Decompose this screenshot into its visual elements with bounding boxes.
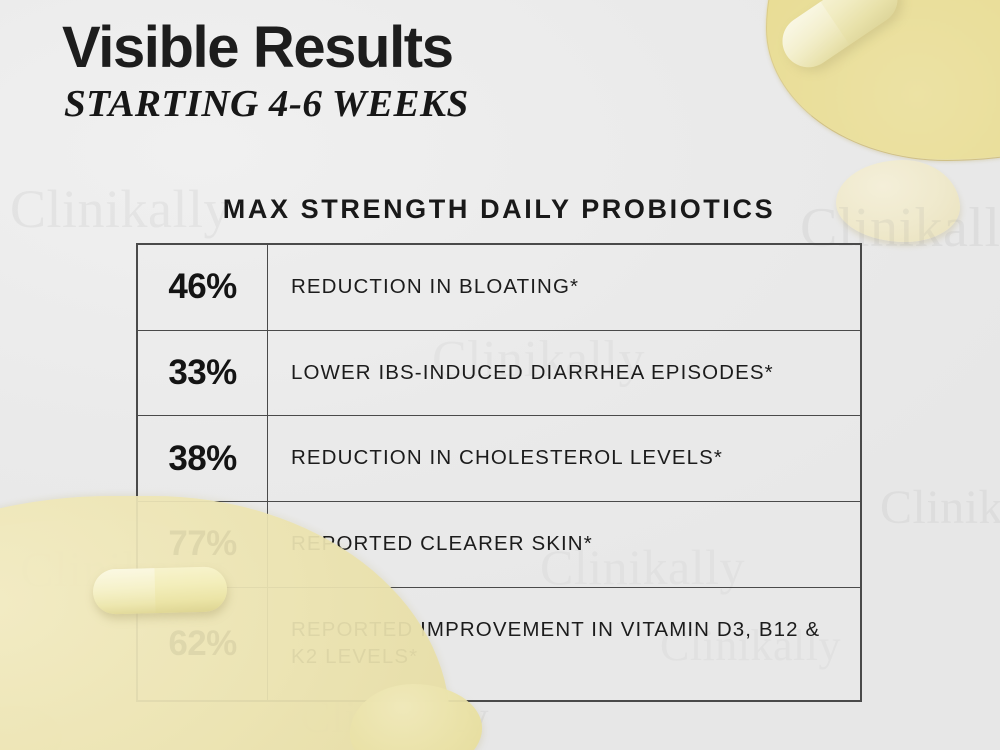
- stat-description-cell: REPORTED CLEARER SKIN*: [268, 501, 861, 587]
- brand-watermark: Clinikally: [880, 480, 1000, 535]
- stat-percent-cell: 38%: [138, 416, 268, 502]
- stat-description-text: REDUCTION IN BLOATING*: [291, 275, 579, 298]
- table-row: 33%LOWER IBS-INDUCED DIARRHEA EPISODES*: [138, 330, 861, 416]
- liquid-blob-top-right-edge: [766, 0, 1000, 161]
- page-subtitle: STARTING 4-6 WEEKS: [64, 84, 469, 126]
- stat-percent-value: 77%: [168, 524, 236, 563]
- stat-percent-value: 46%: [168, 267, 236, 306]
- stat-description-text: REDUCTION IN CHOLESTEROL LEVELS*: [291, 446, 723, 469]
- stat-percent-cell: 62%: [138, 587, 268, 700]
- stat-description-cell: LOWER IBS-INDUCED DIARRHEA EPISODES*: [268, 330, 861, 416]
- table-row: 38%REDUCTION IN CHOLESTEROL LEVELS*: [138, 416, 861, 502]
- stat-percent-cell: 33%: [138, 330, 268, 416]
- stat-description-text: REPORTED CLEARER SKIN*: [291, 532, 593, 555]
- poster-canvas: ClinikallyClinikallyClinikallyClinikally…: [0, 0, 1000, 750]
- stat-description-cell: REDUCTION IN CHOLESTEROL LEVELS*: [268, 416, 861, 502]
- stat-percent-cell: 77%: [138, 501, 268, 587]
- stat-percent-value: 38%: [168, 439, 236, 478]
- stat-description-cell: REDUCTION IN BLOATING*: [268, 245, 861, 331]
- capsule-top-right-icon: [772, 0, 907, 77]
- stat-percent-value: 33%: [168, 353, 236, 392]
- stat-description-text: LOWER IBS-INDUCED DIARRHEA EPISODES*: [291, 361, 774, 384]
- stat-description-cell: REPORTED IMPROVEMENT IN VITAMIN D3, B12 …: [268, 587, 861, 700]
- stat-percent-cell: 46%: [138, 245, 268, 331]
- stat-description-text: REPORTED IMPROVEMENT IN VITAMIN D3, B12 …: [291, 618, 820, 668]
- liquid-blob-top-right: [766, 0, 1000, 160]
- stat-percent-value: 62%: [168, 624, 236, 663]
- page-title: Visible Results: [62, 16, 453, 80]
- table-row: 62%REPORTED IMPROVEMENT IN VITAMIN D3, B…: [138, 587, 861, 700]
- table-row: 46%REDUCTION IN BLOATING*: [138, 245, 861, 331]
- table-heading: MAX STRENGTH DAILY PROBIOTICS: [136, 194, 862, 225]
- results-table: 46%REDUCTION IN BLOATING*33%LOWER IBS-IN…: [136, 243, 862, 702]
- table-row: 77%REPORTED CLEARER SKIN*: [138, 501, 861, 587]
- liquid-blob-bottom-edge: [0, 706, 62, 750]
